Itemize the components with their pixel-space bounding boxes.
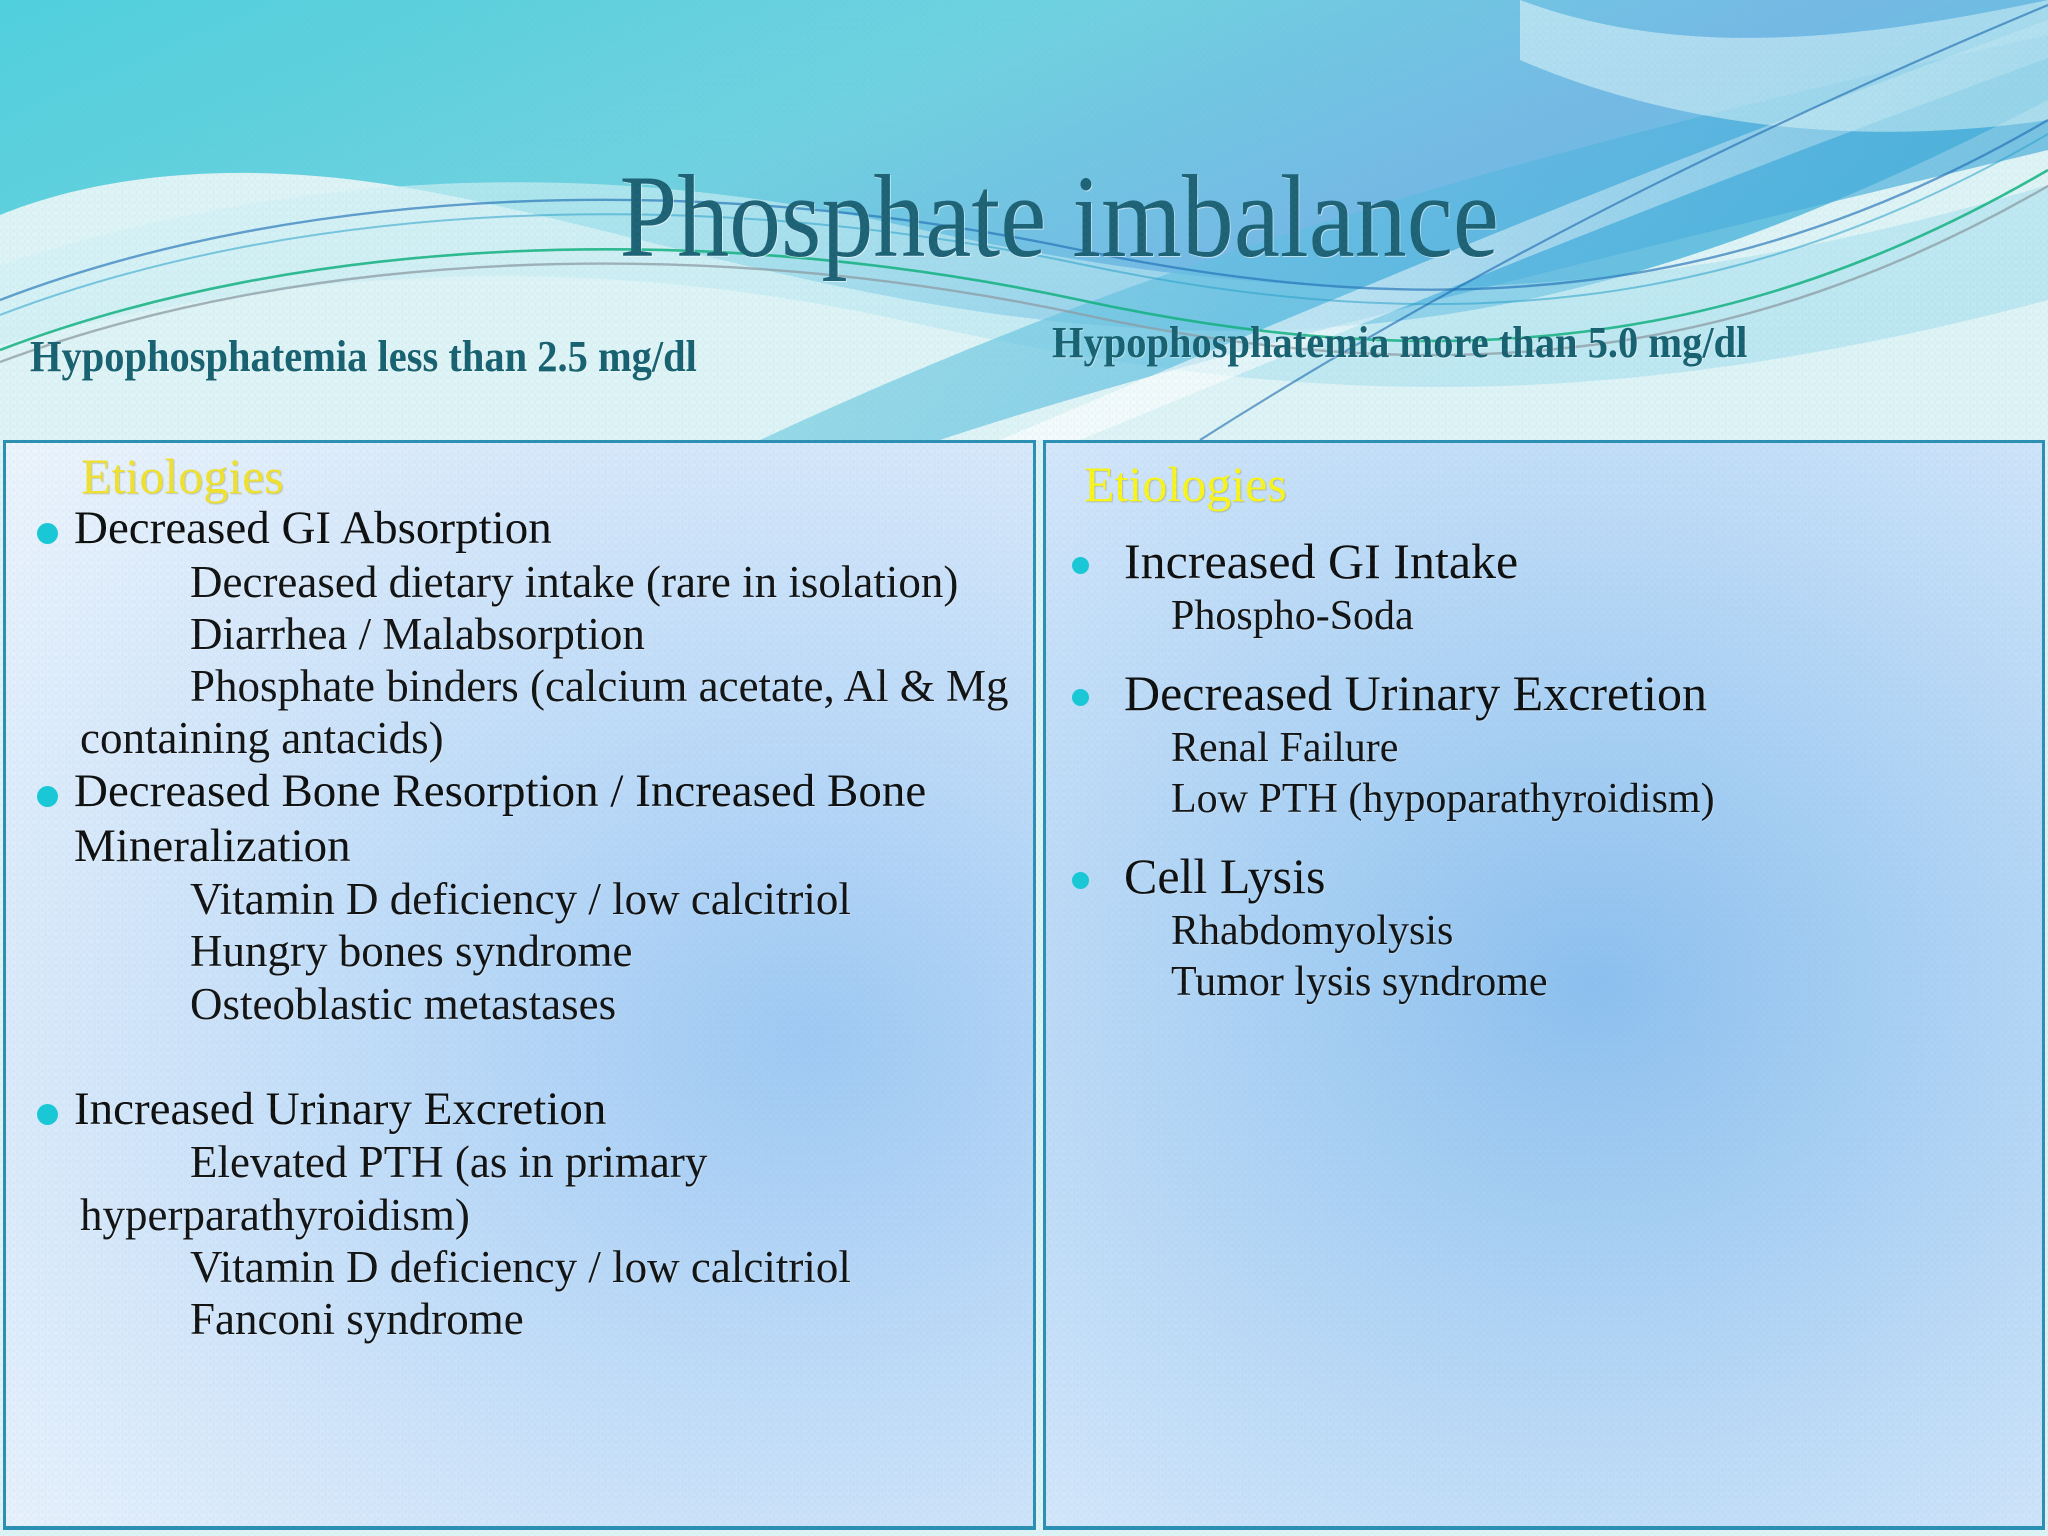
list-item: Low PTH (hypoparathyroidism) [1171,774,2042,824]
list-item: Decreased dietary intake (rare in isolat… [80,556,1030,608]
right-content-body: Etiologies Increased GI Intake Phospho-S… [1046,443,2042,1007]
list-spacer [1046,824,2042,846]
list-item: Phospho-Soda [1171,591,2042,641]
list-spacer [6,1030,1033,1082]
list-item: Osteoblastic metastases [80,978,1030,1030]
list-item: Vitamin D deficiency / low calcitriol [80,873,1030,925]
list-item-label: Decreased Bone Resorption / Increased Bo… [74,764,1014,873]
right-content-panel: Etiologies Increased GI Intake Phospho-S… [1043,440,2045,1530]
list-item: Cell Lysis [1046,846,2042,906]
left-etiologies-heading: Etiologies [81,451,1033,501]
bullet-dot-icon [37,523,58,544]
list-item: Decreased Bone Resorption / Increased Bo… [6,764,1033,873]
bullet-dot-icon [37,1104,58,1125]
list-item: Decreased Urinary Excretion [1046,663,2042,723]
list-item: Fanconi syndrome [80,1293,1030,1345]
right-etiologies-heading: Etiologies [1084,459,2042,509]
list-item: Vitamin D deficiency / low calcitriol [80,1241,1030,1293]
bullet-dot-icon [37,786,58,807]
presentation-slide: Phosphate imbalance Hypophosphatemia les… [0,0,2048,1536]
list-spacer [1046,641,2042,663]
list-item-label: Decreased GI Absorption [74,501,552,556]
left-column-subheading: Hypophosphatemia less than 2.5 mg/dl [30,334,697,380]
list-item: Renal Failure [1171,723,2042,773]
list-item: Tumor lysis syndrome [1171,957,2042,1007]
list-item: Rhabdomyolysis [1171,906,2042,956]
list-item-label: Increased Urinary Excretion [74,1082,606,1137]
left-content-body: Etiologies Decreased GI Absorption Decre… [6,443,1033,1345]
bullet-dot-icon [1072,557,1089,574]
list-spacer [1046,509,2042,531]
bullet-dot-icon [1072,872,1089,889]
list-item: Decreased GI Absorption [6,501,1033,556]
list-item: Hungry bones syndrome [80,925,1030,977]
list-item-label: Decreased Urinary Excretion [1124,663,1707,723]
list-item: Elevated PTH (as in primary hyperparathy… [80,1136,1030,1240]
list-item: Phosphate binders (calcium acetate, Al &… [80,660,1030,764]
list-item: Increased Urinary Excretion [6,1082,1033,1137]
list-item: Diarrhea / Malabsorption [80,608,1030,660]
list-item: Increased GI Intake [1046,531,2042,591]
left-content-panel: Etiologies Decreased GI Absorption Decre… [3,440,1036,1530]
list-item-label: Increased GI Intake [1124,531,1518,591]
bullet-dot-icon [1072,689,1089,706]
right-column-subheading: Hypophosphatemia more than 5.0 mg/dl [1052,320,1747,366]
slide-title: Phosphate imbalance [123,158,1925,276]
list-item-label: Cell Lysis [1124,846,1325,906]
